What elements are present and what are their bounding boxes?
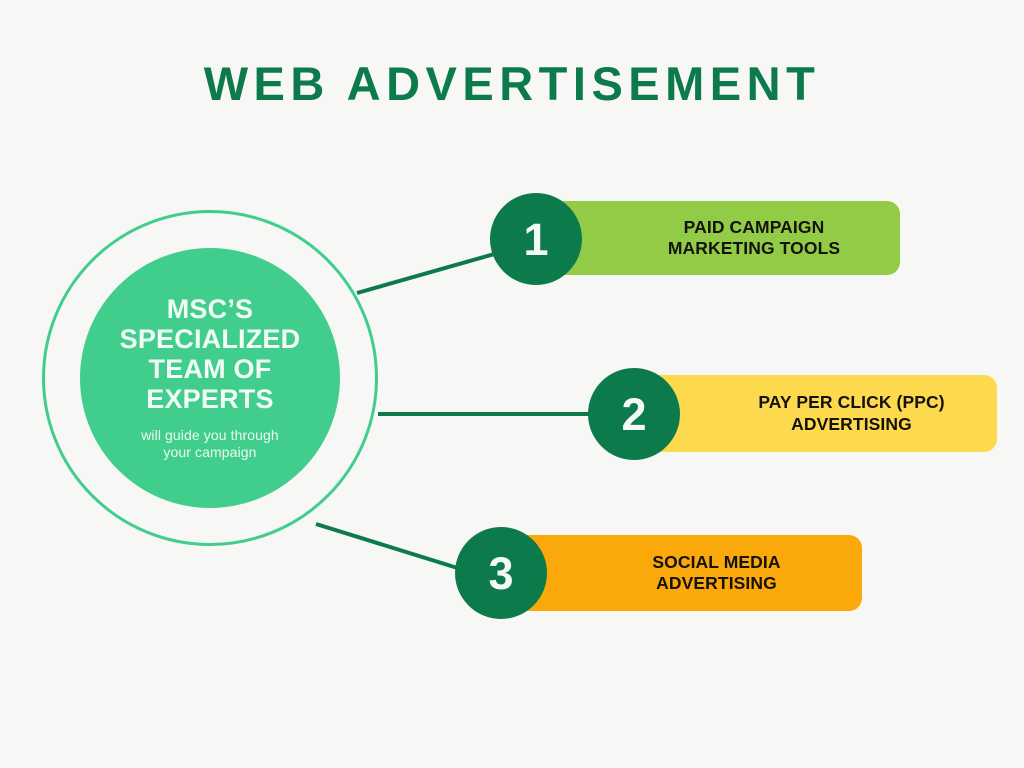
step-label-3: SOCIAL MEDIA ADVERTISING [503, 552, 862, 595]
hub-inner-disc: MSC’S SPECIALIZED TEAM OF EXPERTS will g… [80, 248, 340, 508]
step-label-line: SOCIAL MEDIA [581, 552, 852, 573]
hub-subtitle-line: will guide you through [141, 427, 279, 445]
hub-circle: MSC’S SPECIALIZED TEAM OF EXPERTS will g… [42, 210, 378, 546]
hub-headline: MSC’S SPECIALIZED TEAM OF EXPERTS [120, 294, 301, 415]
step-label-line: ADVERTISING [581, 573, 852, 594]
step-badge-1[interactable]: 1 [490, 193, 582, 285]
page-title: WEB ADVERTISEMENT [0, 58, 1024, 110]
step-badge-3[interactable]: 3 [455, 527, 547, 619]
step-label-2: PAY PER CLICK (PPC) ADVERTISING [638, 392, 997, 435]
step-label-line: PAID CAMPAIGN [618, 217, 890, 238]
hub-subtitle-line: your campaign [141, 444, 279, 462]
step-label-line: MARKETING TOOLS [618, 238, 890, 259]
hub-headline-line: MSC’S [120, 294, 301, 324]
hub-headline-line: SPECIALIZED [120, 324, 301, 354]
step-bar-3[interactable]: SOCIAL MEDIA ADVERTISING [503, 535, 862, 611]
step-label-line: PAY PER CLICK (PPC) [716, 392, 987, 413]
step-label-line: ADVERTISING [716, 414, 987, 435]
infographic-canvas: WEB ADVERTISEMENT MSC’S SPECIALIZED TEAM… [0, 0, 1024, 768]
step-bar-1[interactable]: PAID CAMPAIGN MARKETING TOOLS [540, 201, 900, 275]
step-label-1: PAID CAMPAIGN MARKETING TOOLS [540, 217, 900, 260]
step-number-2: 2 [621, 392, 646, 437]
hub-subtitle: will guide you through your campaign [141, 427, 279, 463]
hub-headline-line: TEAM OF [120, 354, 301, 384]
step-badge-2[interactable]: 2 [588, 368, 680, 460]
step-bar-2[interactable]: PAY PER CLICK (PPC) ADVERTISING [638, 375, 997, 452]
hub-headline-line: EXPERTS [120, 384, 301, 414]
step-number-1: 1 [523, 217, 548, 262]
step-number-3: 3 [488, 551, 513, 596]
connector-line-1 [357, 249, 512, 293]
